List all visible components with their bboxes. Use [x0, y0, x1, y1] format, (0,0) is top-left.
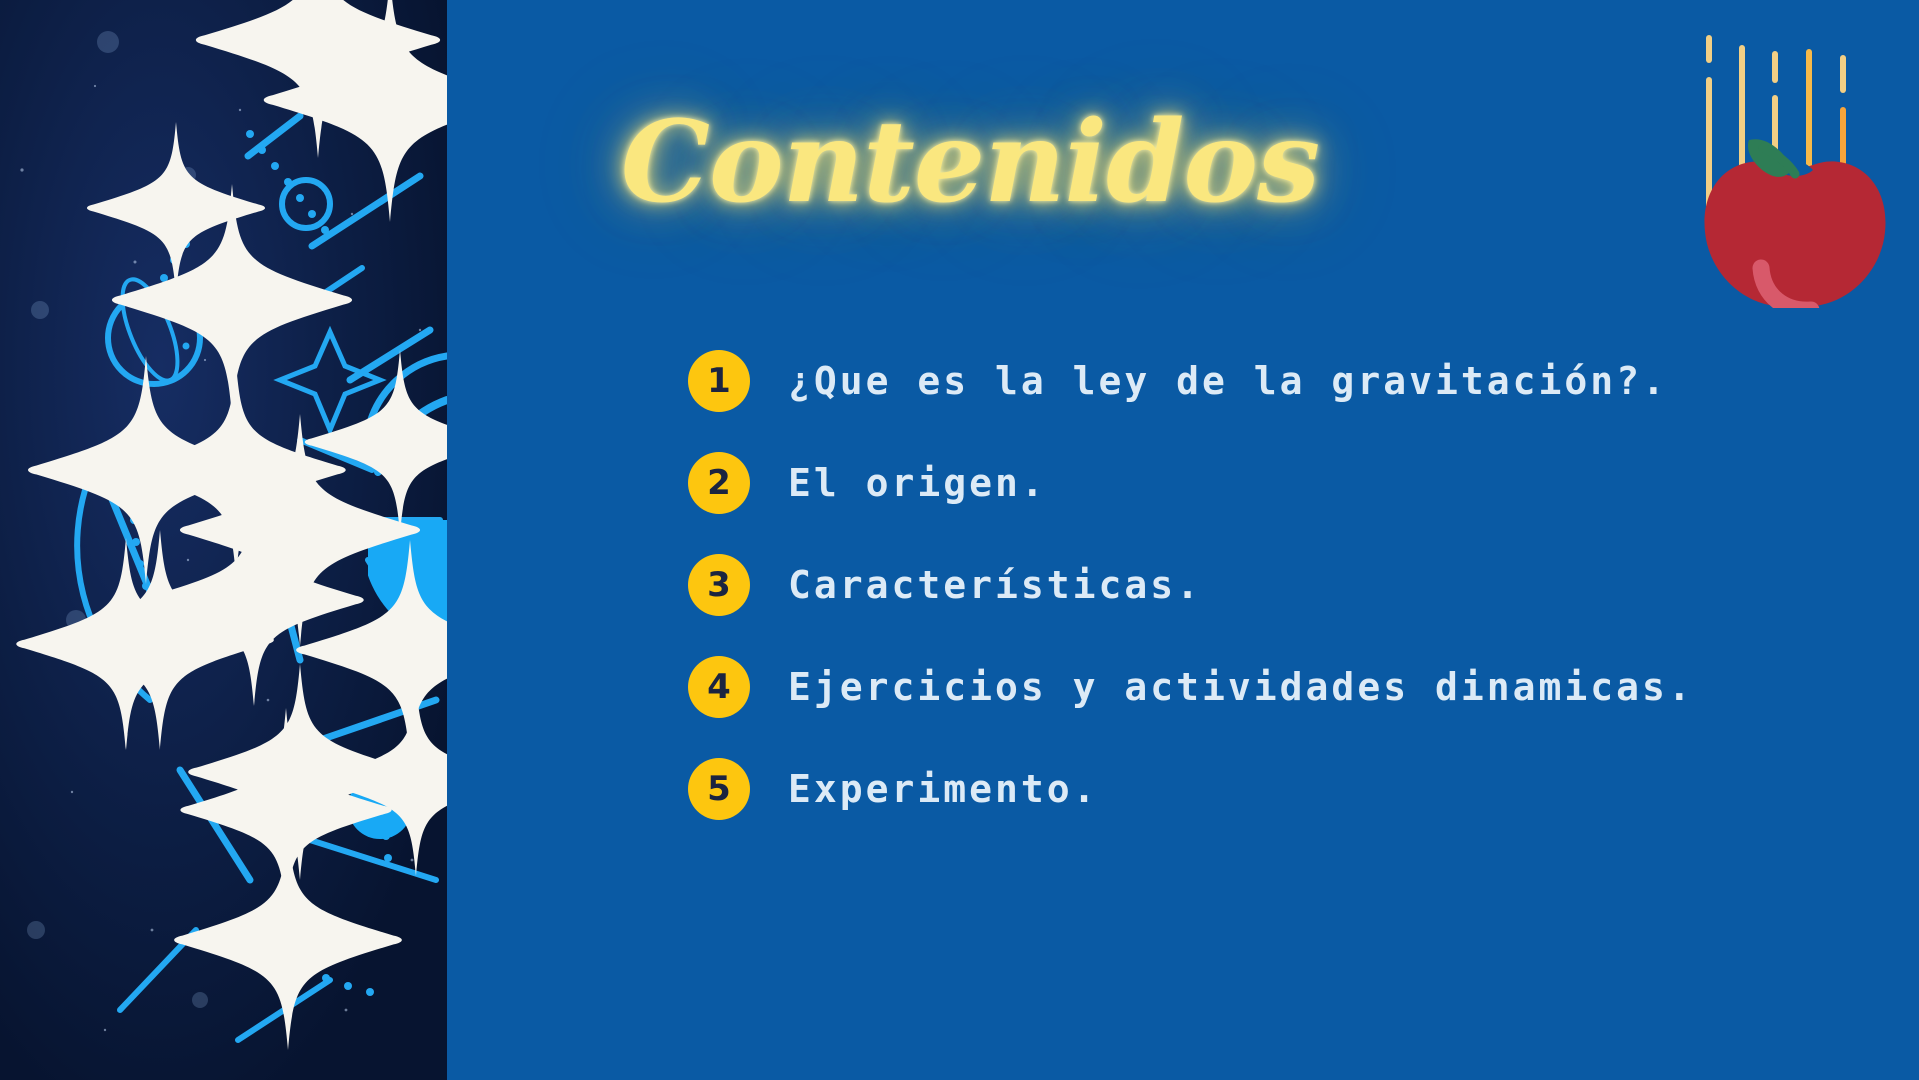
list-item-number-badge: 5	[688, 758, 750, 820]
list-item-number-badge: 4	[688, 656, 750, 718]
list-item[interactable]: 3 Características.	[688, 534, 1848, 636]
slide-title: Contenidos	[470, 104, 1470, 222]
list-item[interactable]: 2 El origen.	[688, 432, 1848, 534]
list-item-label: Experimento.	[788, 767, 1099, 811]
list-item[interactable]: 5 Experimento.	[688, 738, 1848, 840]
list-item[interactable]: 4 Ejercicios y actividades dinamicas.	[688, 636, 1848, 738]
list-item-number-badge: 2	[688, 452, 750, 514]
slide-canvas: Contenidos	[0, 0, 1919, 1080]
list-item-number-badge: 3	[688, 554, 750, 616]
list-item-number-badge: 1	[688, 350, 750, 412]
space-graphics	[0, 0, 447, 1080]
contents-list: 1 ¿Que es la ley de la gravitación?. 2 E…	[688, 330, 1848, 840]
list-item-label: ¿Que es la ley de la gravitación?.	[788, 359, 1668, 403]
list-item[interactable]: 1 ¿Que es la ley de la gravitación?.	[688, 330, 1848, 432]
apple-decoration-group	[1685, 28, 1905, 308]
space-decoration-panel	[0, 0, 447, 1080]
list-item-label: Características.	[788, 563, 1202, 607]
apple-icon	[1704, 139, 1885, 308]
list-item-label: Ejercicios y actividades dinamicas.	[788, 665, 1694, 709]
list-item-label: El origen.	[788, 461, 1047, 505]
